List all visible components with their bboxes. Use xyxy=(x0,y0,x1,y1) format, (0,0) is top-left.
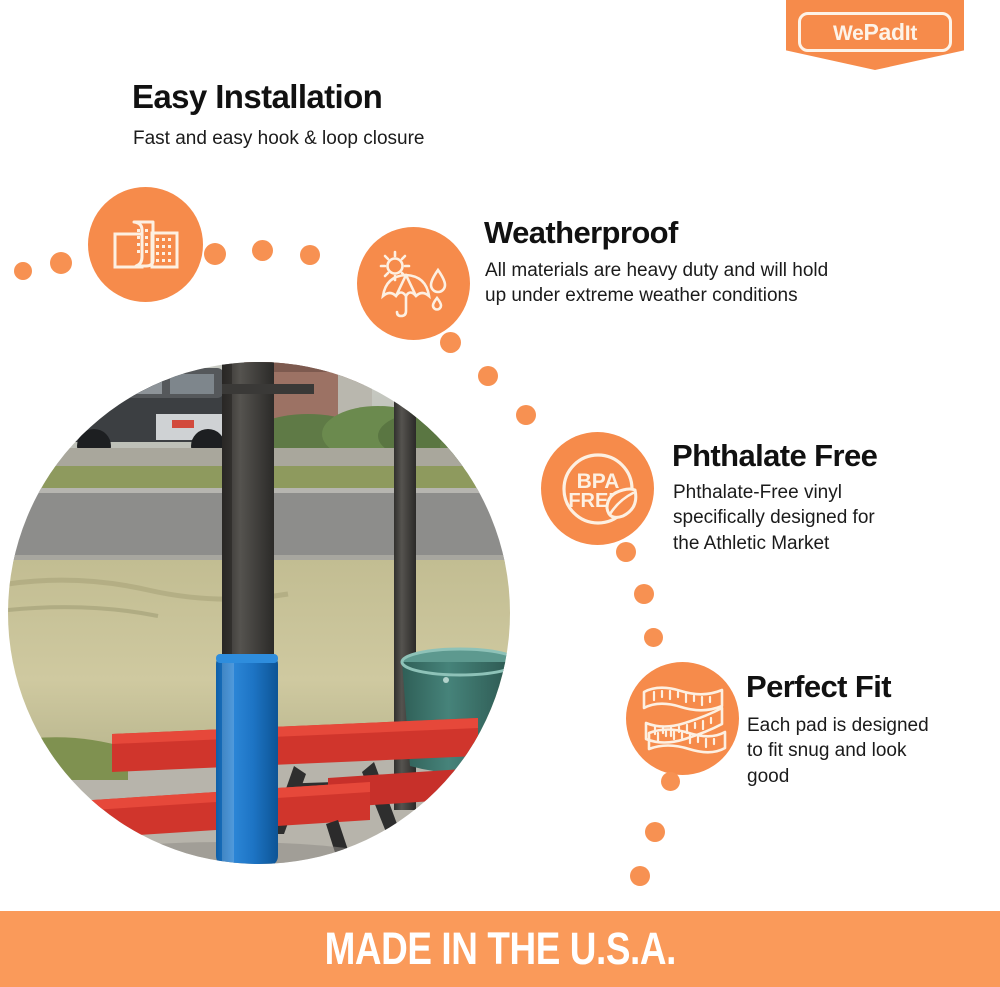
feature-desc-weatherproof-line1: All materials are heavy duty and will ho… xyxy=(485,258,828,283)
feature-desc-weatherproof-line2: up under extreme weather conditions xyxy=(485,283,828,308)
logo-text-it: It xyxy=(905,22,917,45)
trail-dot xyxy=(14,262,32,280)
product-photo xyxy=(8,362,510,864)
logo-text-we: We xyxy=(833,22,864,45)
trail-dot xyxy=(440,332,461,353)
logo-plate: WePadIt xyxy=(798,12,952,52)
trail-dot xyxy=(644,628,663,647)
feature-title-phthalate-free: Phthalate Free xyxy=(672,438,877,474)
trail-dot xyxy=(516,405,536,425)
trail-dot xyxy=(50,252,72,274)
feature-desc-perfect-fit-line2: to fit snug and look xyxy=(747,738,929,763)
feature-desc-easy-installation: Fast and easy hook & loop closure xyxy=(133,126,425,151)
trail-dot xyxy=(204,243,226,265)
trail-dot xyxy=(645,822,665,842)
feature-title-easy-installation: Easy Installation xyxy=(132,78,382,116)
brand-logo: WePadIt xyxy=(786,0,964,70)
trail-dot xyxy=(616,542,636,562)
made-in-usa-text: MADE IN THE U.S.A. xyxy=(324,923,675,975)
trail-dot xyxy=(634,584,654,604)
feature-desc-perfect-fit-line1: Each pad is designed xyxy=(747,713,929,738)
hook-and-loop-icon xyxy=(88,187,203,302)
feature-desc-phthalate-free: Phthalate-Free vinyl specifically design… xyxy=(673,480,875,556)
trail-dot xyxy=(630,866,650,886)
logo-wordmark: WePadIt xyxy=(833,21,917,44)
sun-umbrella-raindrop-icon xyxy=(357,227,470,340)
feature-desc-phthalate-free-line2: specifically designed for xyxy=(673,505,875,530)
feature-desc-perfect-fit: Each pad is designed to fit snug and loo… xyxy=(747,713,929,789)
feature-title-weatherproof: Weatherproof xyxy=(484,215,678,251)
feature-desc-perfect-fit-line3: good xyxy=(747,764,929,789)
trail-dot xyxy=(300,245,320,265)
infographic-root: WePadIt Easy Installation Fast and easy … xyxy=(0,0,1000,987)
made-in-usa-banner: MADE IN THE U.S.A. xyxy=(0,911,1000,987)
measuring-tape-icon xyxy=(626,662,739,775)
logo-text-pad: Pad xyxy=(864,19,905,45)
trail-dot xyxy=(661,772,680,791)
feature-desc-phthalate-free-line1: Phthalate-Free vinyl xyxy=(673,480,875,505)
trail-dot xyxy=(252,240,273,261)
feature-desc-phthalate-free-line3: the Athletic Market xyxy=(673,531,875,556)
bpa-free-leaf-icon: BPA FREE xyxy=(541,432,654,545)
feature-desc-weatherproof: All materials are heavy duty and will ho… xyxy=(485,258,828,309)
feature-title-perfect-fit: Perfect Fit xyxy=(746,669,891,705)
